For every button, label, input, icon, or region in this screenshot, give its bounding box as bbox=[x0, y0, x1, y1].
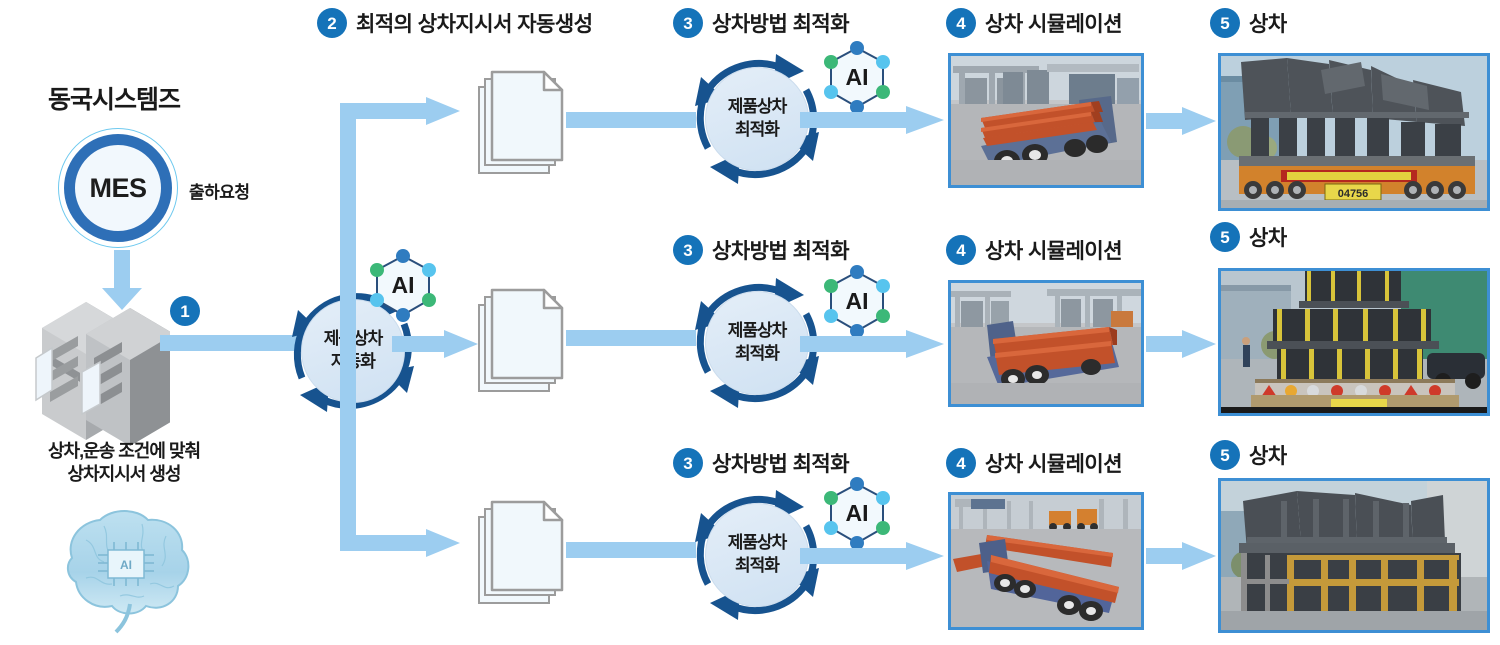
step-4-header-row3: 4 상차 시뮬레이션 bbox=[946, 448, 1122, 478]
optimize-node-disc: 제품상차 최적화 bbox=[705, 67, 809, 171]
step-3-label: 상차방법 최적화 bbox=[712, 235, 849, 265]
step-3-header-row2: 3 상차방법 최적화 bbox=[673, 235, 849, 265]
ai-brain-icon: AI bbox=[42, 500, 207, 635]
step-3-badge: 3 bbox=[673, 8, 703, 38]
step-5-header-row1: 5 상차 bbox=[1210, 8, 1287, 38]
mes-ring: MES bbox=[64, 134, 172, 242]
simulation-image-row2 bbox=[948, 280, 1144, 407]
document-stack-row1 bbox=[478, 70, 566, 178]
document-stack-row2 bbox=[478, 288, 566, 396]
step-5-label: 상차 bbox=[1249, 440, 1287, 470]
simulation-to-photo-arrow-row2 bbox=[1146, 328, 1218, 360]
step-3-badge: 3 bbox=[673, 448, 703, 478]
step-5-badge: 5 bbox=[1210, 8, 1240, 38]
optimize-to-simulation-arrow-row2 bbox=[800, 328, 950, 360]
optimize-to-simulation-arrow-row3 bbox=[800, 540, 950, 572]
loaded-truck-photo-row1: 04756 bbox=[1221, 56, 1487, 208]
diagram-canvas: 2 최적의 상차지시서 자동생성 3 상차방법 최적화 4 상차 시뮬레이션 5… bbox=[0, 0, 1500, 645]
step-5-header-row3: 5 상차 bbox=[1210, 440, 1287, 470]
step-4-badge: 4 bbox=[946, 8, 976, 38]
simulation-image-row3 bbox=[948, 492, 1144, 630]
step-3-header-row3: 3 상차방법 최적화 bbox=[673, 448, 849, 478]
photo-image-row2 bbox=[1218, 268, 1490, 416]
document-front-sheet bbox=[490, 70, 566, 162]
simulation-to-photo-arrow-row3 bbox=[1146, 540, 1218, 572]
optimize-to-simulation-arrow-row1 bbox=[800, 104, 950, 136]
optimize-node-line1: 제품상차 bbox=[728, 97, 787, 116]
company-title: 동국시스템즈 bbox=[48, 80, 180, 116]
server-caption-line2: 상차지시서 생성 bbox=[14, 463, 234, 486]
photo-image-row3 bbox=[1218, 478, 1490, 633]
step-2-label: 최적의 상차지시서 자동생성 bbox=[356, 8, 593, 38]
step-5-badge: 5 bbox=[1210, 440, 1240, 470]
step-4-header-row1: 4 상차 시뮬레이션 bbox=[946, 8, 1122, 38]
loaded-truck-photo-row2 bbox=[1221, 271, 1487, 413]
server-caption-line1: 상차,운송 조건에 맞춰 bbox=[14, 440, 234, 463]
optimize-node-disc: 제품상차 최적화 bbox=[705, 503, 809, 607]
svg-text:04756: 04756 bbox=[1338, 188, 1369, 200]
document-front-sheet bbox=[490, 500, 566, 592]
mes-circle: MES bbox=[58, 128, 178, 248]
optimize-node-line2: 최적화 bbox=[735, 120, 779, 139]
photo-image-row1: 04756 bbox=[1218, 53, 1490, 211]
docs-to-optimize-connector-row2 bbox=[566, 330, 696, 346]
document-front-sheet bbox=[490, 288, 566, 380]
shipping-request-label: 출하요청 bbox=[189, 178, 250, 203]
optimize-node-disc: 제품상차 최적화 bbox=[705, 291, 809, 395]
optimize-node-line2: 최적화 bbox=[735, 344, 779, 363]
step-2-badge: 2 bbox=[317, 8, 347, 38]
step-5-header-row2: 5 상차 bbox=[1210, 222, 1287, 252]
step-5-badge: 5 bbox=[1210, 222, 1240, 252]
step-4-badge: 4 bbox=[946, 448, 976, 478]
optimize-node-line2: 최적화 bbox=[735, 556, 779, 575]
step-4-label: 상차 시뮬레이션 bbox=[985, 8, 1122, 38]
step-4-label: 상차 시뮬레이션 bbox=[985, 448, 1122, 478]
step-3-label: 상차방법 최적화 bbox=[712, 8, 849, 38]
optimize-node-line1: 제품상차 bbox=[728, 321, 787, 340]
step-2-header: 2 최적의 상차지시서 자동생성 bbox=[317, 8, 593, 38]
step-1-badge: 1 bbox=[170, 296, 200, 326]
document-stack-row3 bbox=[478, 500, 566, 608]
step-3-badge: 3 bbox=[673, 235, 703, 265]
step-4-label: 상차 시뮬레이션 bbox=[985, 235, 1122, 265]
simulation-image-row1 bbox=[948, 53, 1144, 188]
stacked-beams-photo-row3 bbox=[1221, 481, 1487, 630]
server-caption: 상차,운송 조건에 맞춰 상차지시서 생성 bbox=[14, 440, 234, 487]
optimize-node-line1: 제품상차 bbox=[728, 533, 787, 552]
step-4-badge: 4 bbox=[946, 235, 976, 265]
automation-to-docs-arrow-middle bbox=[392, 328, 492, 360]
step-3-label: 상차방법 최적화 bbox=[712, 448, 849, 478]
step-4-header-row2: 4 상차 시뮬레이션 bbox=[946, 235, 1122, 265]
simulation-render-row1 bbox=[951, 56, 1141, 185]
server-icon bbox=[30, 292, 170, 462]
simulation-render-row2 bbox=[951, 283, 1141, 404]
docs-to-optimize-connector-row1 bbox=[566, 112, 696, 128]
mes-label: MES bbox=[89, 173, 146, 204]
step-3-header-row1: 3 상차방법 최적화 bbox=[673, 8, 849, 38]
step-5-label: 상차 bbox=[1249, 222, 1287, 252]
simulation-render-row3 bbox=[951, 495, 1141, 627]
docs-to-optimize-connector-row3 bbox=[566, 542, 696, 558]
step-5-label: 상차 bbox=[1249, 8, 1287, 38]
svg-text:AI: AI bbox=[120, 558, 132, 572]
simulation-to-photo-arrow-row1 bbox=[1146, 105, 1218, 137]
